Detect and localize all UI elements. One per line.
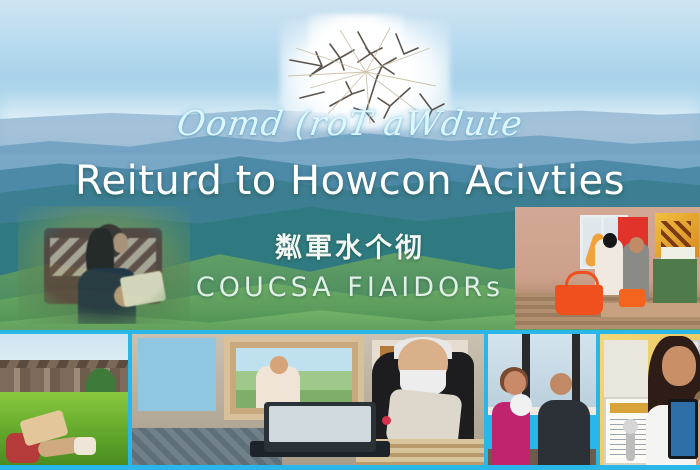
tablet-device — [668, 399, 698, 459]
collage-cell-children-window[interactable] — [488, 334, 596, 465]
child-girl-head — [504, 371, 526, 395]
poster-canvas: Oomd (roT aWdute Reiturd to Howcon Acivt… — [0, 0, 700, 470]
page-title: Reiturd to Howcon Acivties — [0, 158, 700, 204]
photo-woman-reading — [18, 206, 190, 324]
laptop — [264, 402, 376, 452]
field-child-shoe — [74, 437, 96, 455]
girl-face — [662, 346, 696, 386]
man-lapel-pin — [382, 416, 391, 425]
secondary-caption: COUCSA FIAIDORs — [0, 272, 700, 303]
collage-cell-man-laptop[interactable] — [132, 334, 484, 465]
display-board — [604, 340, 648, 398]
script-subtitle: Oomd (roT aWdute — [0, 104, 700, 144]
collage-cell-field[interactable] — [0, 334, 128, 465]
easel-figure-head — [270, 356, 288, 374]
cjk-caption: 粼軍水个彻 — [0, 226, 700, 265]
laptop-screen — [269, 406, 371, 442]
microphone-icon — [626, 427, 635, 461]
collage-cell-girl-poster[interactable] — [600, 334, 700, 465]
room-window — [138, 338, 216, 411]
photo-collage-strip — [0, 330, 700, 470]
child-boy-body — [538, 400, 590, 466]
market-counter — [601, 303, 700, 317]
